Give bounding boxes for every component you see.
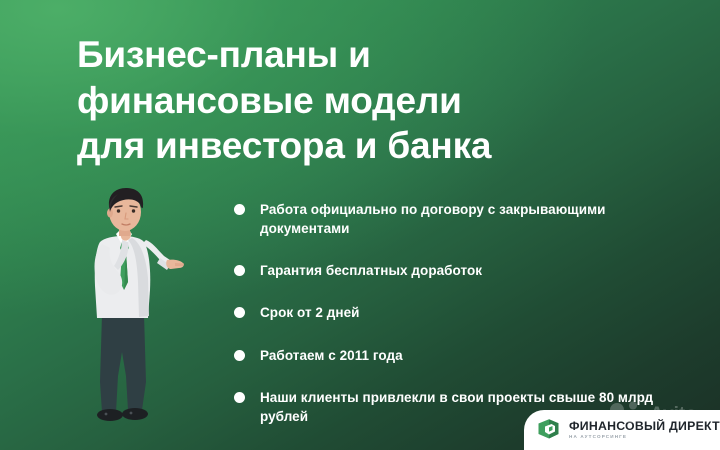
page-title: Бизнес-планы и финансовые модели для инв… [77,32,597,169]
list-item-label: Работаем с 2011 года [260,346,403,365]
logo-subtitle: НА АУТСОРСИНГЕ [569,435,720,440]
list-item: Гарантия бесплатных доработок [234,261,664,280]
list-item-label: Гарантия бесплатных доработок [260,261,482,280]
benefits-list: Работа официально по договору с закрываю… [234,200,664,426]
green-diamond-arrow-logo-mark [536,418,561,443]
logo-title: ФИНАНСОВЫЙ ДИРЕКТОР [569,420,720,432]
list-item: Работа официально по договору с закрываю… [234,200,664,238]
bullet-dot-icon [234,350,245,361]
businessman-pointing-illustration [70,186,190,424]
bullet-dot-icon [234,265,245,276]
bullet-dot-icon [234,392,245,403]
logo-badge: ФИНАНСОВЫЙ ДИРЕКТОР НА АУТСОРСИНГЕ [524,410,720,450]
bullet-dot-icon [234,307,245,318]
logo-wordmark: ФИНАНСОВЫЙ ДИРЕКТОР НА АУТСОРСИНГЕ [569,420,720,439]
bullet-dot-icon [234,204,245,215]
list-item-label: Срок от 2 дней [260,303,360,322]
list-item-label: Работа официально по договору с закрываю… [260,200,664,238]
list-item: Работаем с 2011 года [234,346,664,365]
list-item: Срок от 2 дней [234,303,664,322]
promo-poster: Бизнес-планы и финансовые модели для инв… [0,0,720,450]
